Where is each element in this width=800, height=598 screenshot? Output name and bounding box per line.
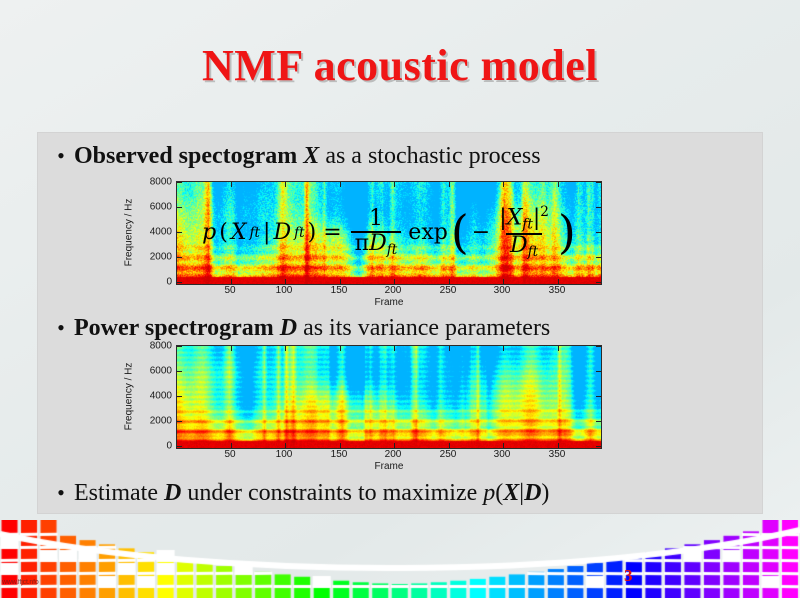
- chart-2-plot-area: [176, 345, 602, 449]
- x-tickmark: [285, 279, 286, 284]
- chart-2-xtick: 250: [440, 449, 457, 460]
- chart-1-plot-area: p(Xft|Dft) = 1 πDft exp ( − |Xft|2 Dft: [176, 181, 602, 285]
- x-tickmark: [231, 443, 232, 448]
- chart-1-ylabel: Frequency / Hz: [122, 181, 136, 283]
- x-tickmark: [449, 182, 450, 187]
- y-tickmark: [596, 371, 601, 372]
- y-tickmark: [177, 282, 182, 283]
- chart-1-ytick: 8000: [138, 177, 172, 188]
- y-tickmark: [596, 207, 601, 208]
- chart-2-ytick: 0: [138, 441, 172, 452]
- chart-2-xtick: 300: [494, 449, 511, 460]
- y-tickmark: [177, 396, 182, 397]
- x-tickmark: [503, 279, 504, 284]
- x-tickmark: [340, 443, 341, 448]
- x-tickmark: [503, 182, 504, 187]
- y-tickmark: [596, 396, 601, 397]
- chart-1-xlabel: Frame: [176, 297, 602, 308]
- content-panel: • Observed spectogram X as a stochastic …: [38, 133, 762, 513]
- x-tickmark: [394, 443, 395, 448]
- chart-2-ytick: 8000: [138, 341, 172, 352]
- x-tickmark: [394, 346, 395, 351]
- chart-2-ytick: 4000: [138, 391, 172, 402]
- x-tickmark: [503, 346, 504, 351]
- bullet-3-part-3: under constraints to maximize: [181, 480, 483, 506]
- y-tickmark: [177, 371, 182, 372]
- x-tickmark: [231, 346, 232, 351]
- chart-2-ytick: 2000: [138, 416, 172, 427]
- x-tickmark: [285, 443, 286, 448]
- bullet-text-1: Observed spectogram X as a stochastic pr…: [74, 141, 541, 171]
- chart-1-xtick: 100: [276, 285, 293, 296]
- x-tickmark: [558, 443, 559, 448]
- chart-2-yticks: 8000 6000 4000 2000 0: [138, 345, 172, 447]
- chart-2-xtick: 150: [331, 449, 348, 460]
- x-tickmark: [231, 182, 232, 187]
- chart-observed-spectrogram: Frequency / Hz 8000 6000 4000 2000 0 p(X…: [124, 181, 604, 311]
- y-tickmark: [596, 282, 601, 283]
- bullet-1-part-1: Observed spectogram: [74, 143, 303, 169]
- chart-2-xtick: 350: [549, 449, 566, 460]
- bullet-item-1: • Observed spectogram X as a stochastic …: [48, 141, 756, 171]
- y-tickmark: [177, 421, 182, 422]
- chart-1-xtick: 150: [331, 285, 348, 296]
- chart-1-ytick: 6000: [138, 202, 172, 213]
- y-tickmark: [596, 346, 601, 347]
- x-tickmark: [449, 279, 450, 284]
- bullet-marker: •: [48, 478, 74, 508]
- x-tickmark: [394, 279, 395, 284]
- chart-1-yticks: 8000 6000 4000 2000 0: [138, 181, 172, 283]
- bullet-3-part-9: ): [541, 480, 549, 506]
- bullet-3-part-8: D: [524, 480, 541, 506]
- equalizer-bars: [0, 520, 800, 598]
- x-tickmark: [231, 279, 232, 284]
- y-tickmark: [596, 182, 601, 183]
- bullet-2-part-2: D: [280, 315, 297, 341]
- bullet-3-part-1: Estimate: [74, 480, 164, 506]
- x-tickmark: [285, 182, 286, 187]
- bullet-2-part-3: as its variance parameters: [297, 315, 550, 341]
- chart-2-xtick: 200: [385, 449, 402, 460]
- x-tickmark: [449, 346, 450, 351]
- spectrogram-1-image: [177, 182, 601, 284]
- chart-1-xtick: 250: [440, 285, 457, 296]
- y-tickmark: [596, 257, 601, 258]
- chart-power-spectrogram: Frequency / Hz 8000 6000 4000 2000 0 50 …: [124, 345, 604, 475]
- page-number: 3: [624, 566, 633, 586]
- footer-equalizer-graphic: [0, 520, 800, 598]
- y-tickmark: [596, 232, 601, 233]
- chart-1-xtick: 50: [224, 285, 235, 296]
- chart-1-ytick: 2000: [138, 252, 172, 263]
- slide-canvas: NMF acoustic model • Observed spectogram…: [0, 0, 800, 598]
- y-tickmark: [177, 446, 182, 447]
- bullet-marker: •: [48, 313, 74, 343]
- x-tickmark: [340, 346, 341, 351]
- chart-2-xtick: 50: [224, 449, 235, 460]
- y-tickmark: [177, 207, 182, 208]
- bullet-3-part-6: X: [503, 480, 519, 506]
- chart-2-ytick: 6000: [138, 366, 172, 377]
- bullet-text-3: Estimate D under constraints to maximize…: [74, 478, 549, 508]
- bullet-item-2: • Power spectrogram D as its variance pa…: [48, 313, 756, 343]
- x-tickmark: [449, 443, 450, 448]
- y-tickmark: [596, 446, 601, 447]
- chart-1-ytick: 0: [138, 277, 172, 288]
- watermark-text: www.ffjct.nfo: [2, 579, 39, 586]
- bullet-2-part-1: Power spectrogram: [74, 315, 280, 341]
- bullet-1-part-2: X: [303, 143, 319, 169]
- y-tickmark: [177, 257, 182, 258]
- x-tickmark: [394, 182, 395, 187]
- chart-2-xtick: 100: [276, 449, 293, 460]
- bullet-item-3: • Estimate D under constraints to maximi…: [48, 478, 756, 508]
- x-tickmark: [340, 182, 341, 187]
- chart-1-xtick: 300: [494, 285, 511, 296]
- chart-2-xlabel: Frame: [176, 461, 602, 472]
- bullet-3-part-4: p: [483, 480, 495, 506]
- chart-1-xtick: 350: [549, 285, 566, 296]
- chart-1-xtick: 200: [385, 285, 402, 296]
- x-tickmark: [558, 346, 559, 351]
- page-title: NMF acoustic model: [0, 40, 800, 91]
- x-tickmark: [558, 279, 559, 284]
- y-tickmark: [177, 182, 182, 183]
- spectrogram-2-image: [177, 346, 601, 448]
- y-tickmark: [177, 232, 182, 233]
- bullet-marker: •: [48, 141, 74, 171]
- x-tickmark: [285, 346, 286, 351]
- x-tickmark: [558, 182, 559, 187]
- x-tickmark: [340, 279, 341, 284]
- y-tickmark: [177, 346, 182, 347]
- bullet-1-part-3: as a stochastic process: [319, 143, 540, 169]
- chart-1-ytick: 4000: [138, 227, 172, 238]
- chart-2-ylabel: Frequency / Hz: [122, 345, 136, 447]
- bullet-3-part-2: D: [164, 480, 181, 506]
- y-tickmark: [596, 421, 601, 422]
- x-tickmark: [503, 443, 504, 448]
- bullet-text-2: Power spectrogram D as its variance para…: [74, 313, 550, 343]
